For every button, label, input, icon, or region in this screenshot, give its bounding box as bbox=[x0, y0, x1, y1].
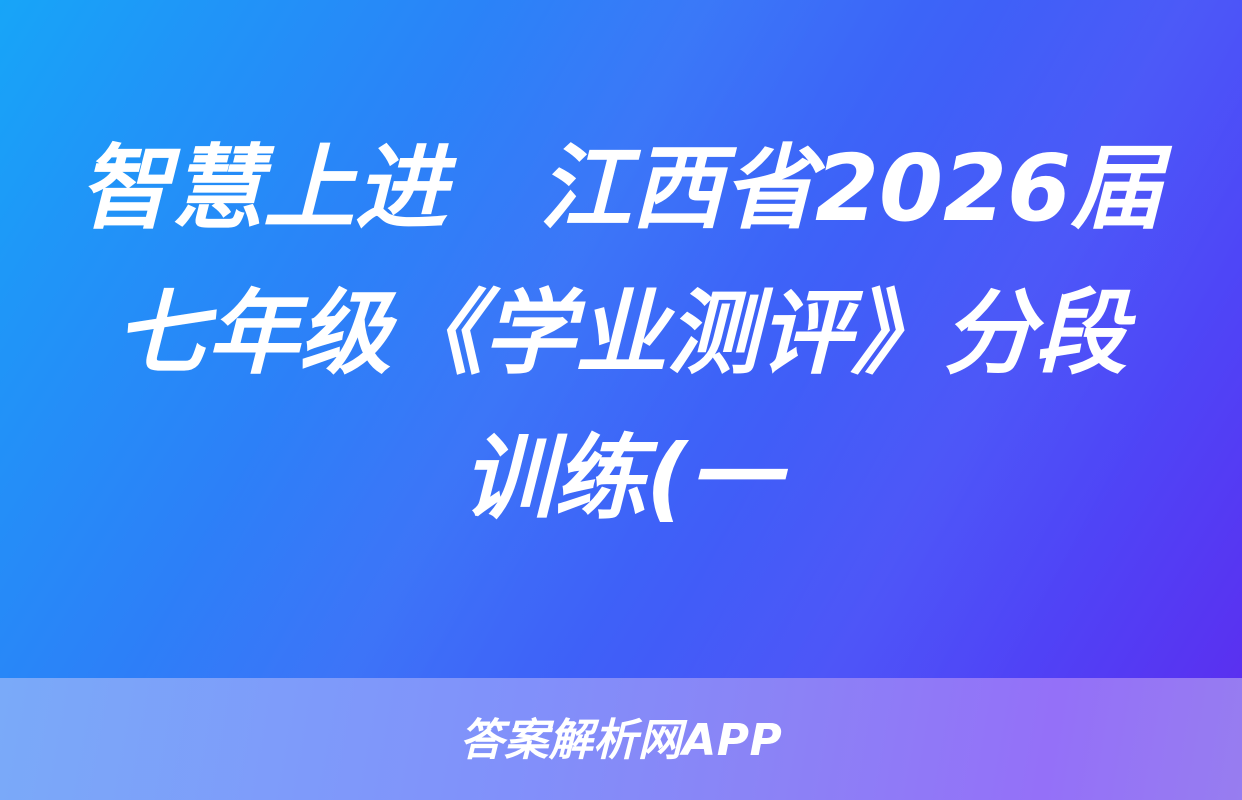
page-title: 智慧上进 江西省2026届七年级《学业测评》分段训练(一 bbox=[76, 116, 1166, 551]
footer-band: 答案解析网APP bbox=[0, 678, 1242, 800]
share-card: 智慧上进 江西省2026届七年级《学业测评》分段训练(一 答案解析网APP bbox=[0, 0, 1242, 800]
brand-watermark: 答案解析网APP bbox=[460, 717, 783, 765]
hero-banner: 智慧上进 江西省2026届七年级《学业测评》分段训练(一 bbox=[0, 0, 1242, 678]
